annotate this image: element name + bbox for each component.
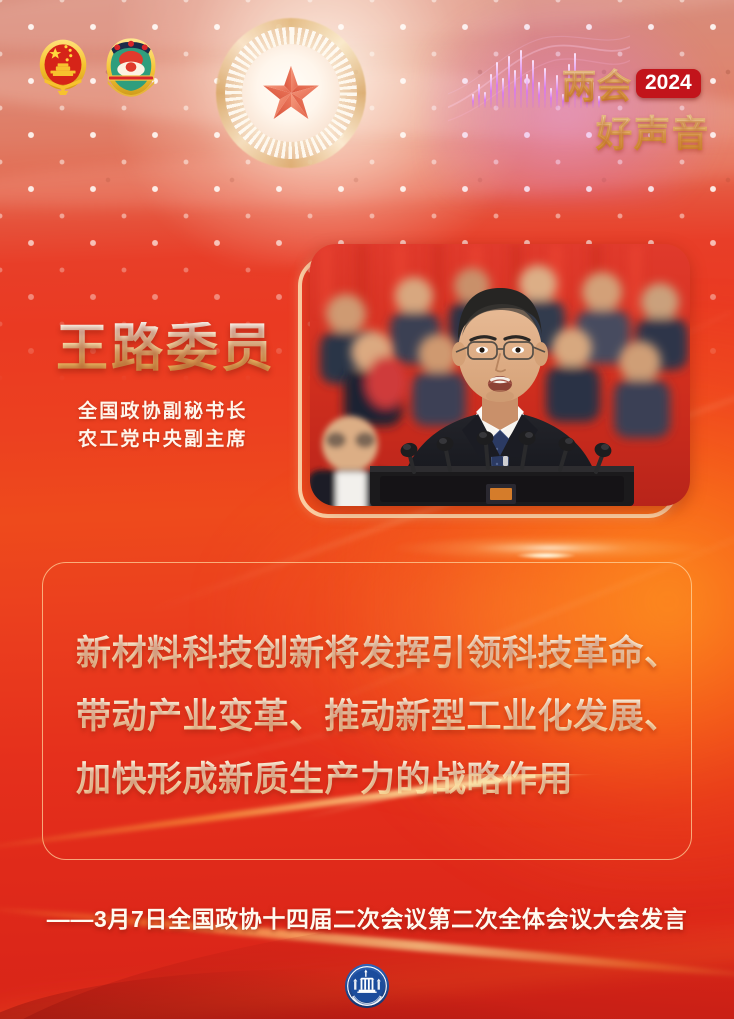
cppcc-news-circular-logo-icon <box>344 963 390 1009</box>
brand-line2: 好声音 <box>562 105 710 157</box>
lens-flare-core <box>517 552 575 559</box>
speaker-photo <box>310 244 690 506</box>
quote-line-2: 带动产业变革、推动新型工业化发展、 <box>76 685 696 748</box>
event-caption: ——3月7日全国政协十四届二次会议第二次全体会议大会发言 <box>0 900 734 934</box>
poster-root: 两会 2024 好声音 王路委员 全国政协副秘书长 农工党中央副主席 <box>0 0 734 1019</box>
speaker-title-1: 全国政协副秘书长 <box>78 398 306 426</box>
brand-line1: 两会 <box>562 59 632 108</box>
brand-line1-row: 两会 2024 <box>562 62 710 104</box>
star-icon <box>260 62 322 124</box>
program-brand-logo: 两会 2024 好声音 <box>562 62 710 150</box>
speaker-titles: 全国政协副秘书长 农工党中央副主席 <box>56 398 306 454</box>
brand-year-badge: 2024 <box>636 69 701 98</box>
national-emblem-of-china-icon <box>36 36 90 98</box>
speaker-title-2: 农工党中央副主席 <box>78 426 306 454</box>
speaker-photo-container <box>310 244 690 506</box>
cppcc-emblem-icon <box>104 36 158 98</box>
speaker-name-block: 王路委员 全国政协副秘书长 农工党中央副主席 <box>56 322 306 454</box>
quote-line-1: 新材料科技创新将发挥引领科技革命、 <box>76 622 696 685</box>
speaker-photo-illustration <box>310 244 690 506</box>
red-star-medallion <box>216 18 366 168</box>
speaker-name: 王路委员 <box>56 322 306 376</box>
light-ray-1 <box>0 774 734 854</box>
